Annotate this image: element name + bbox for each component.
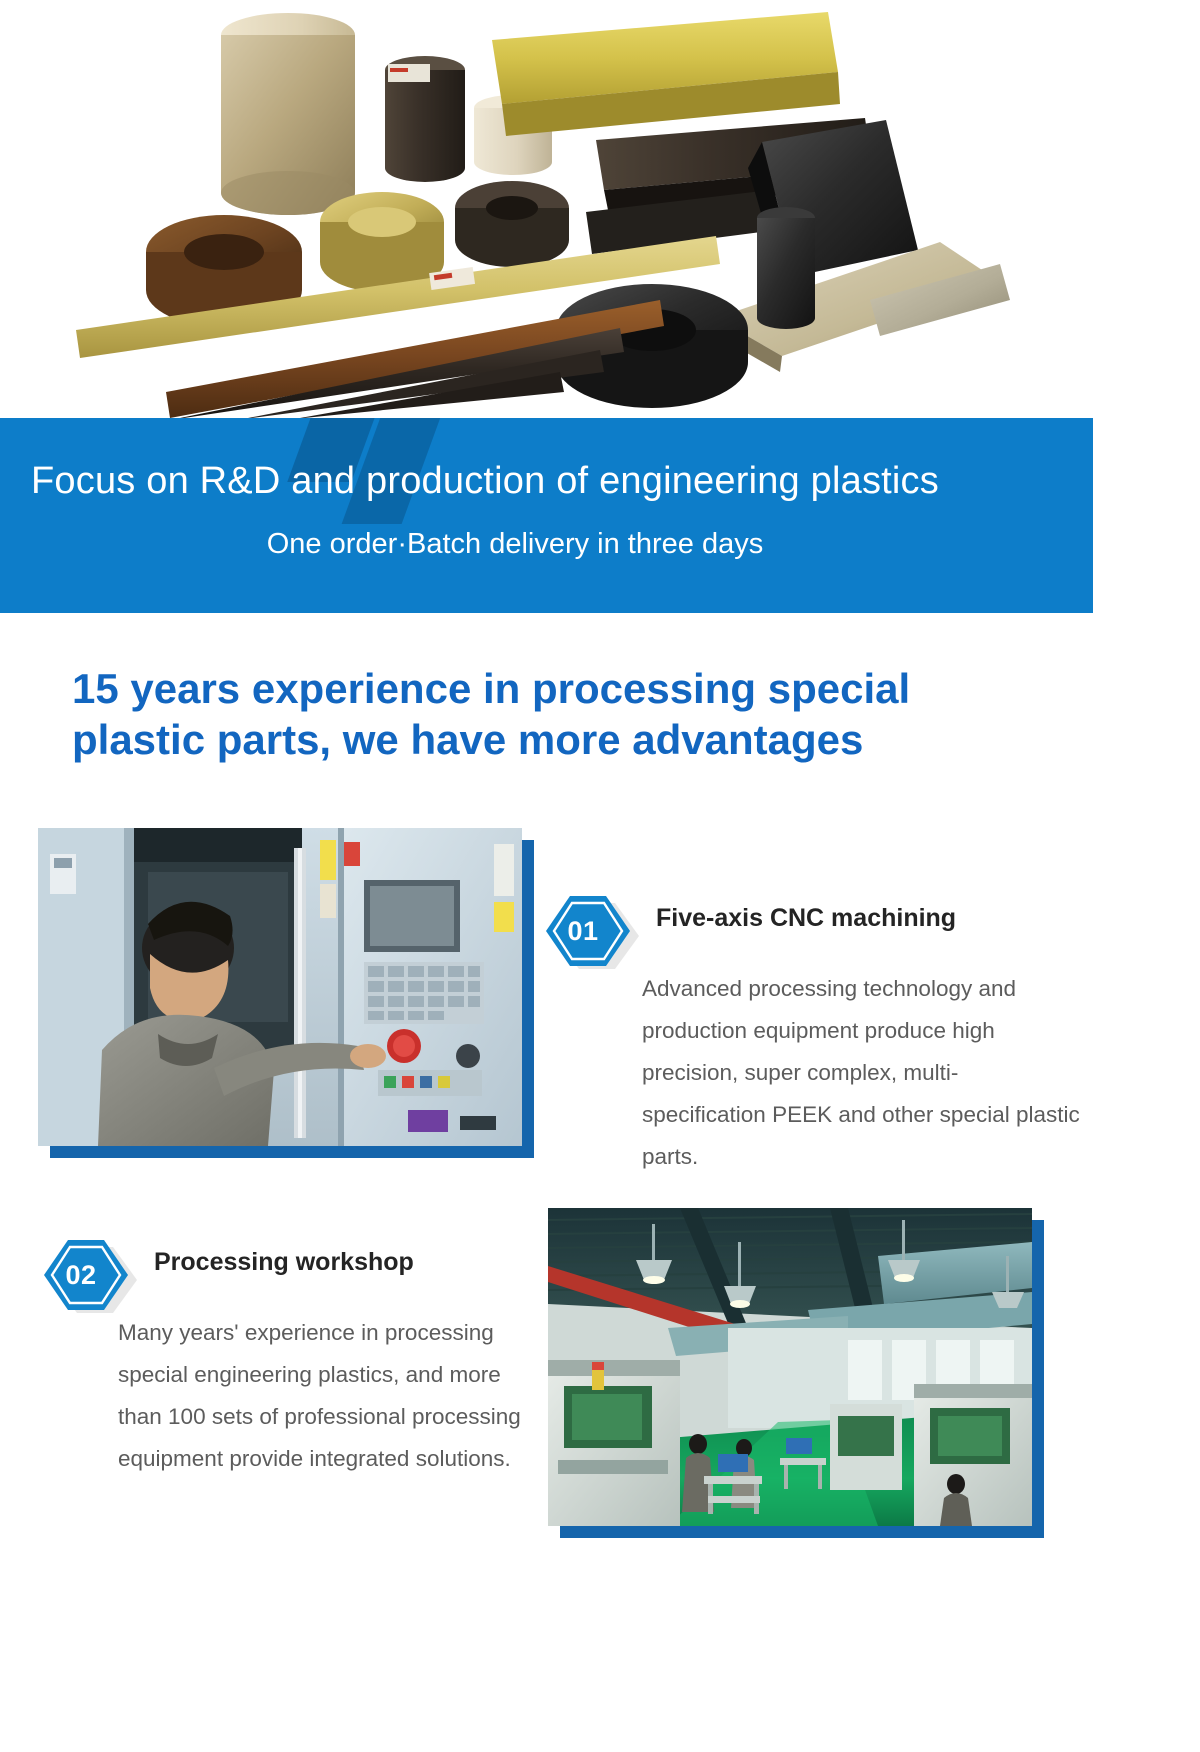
headline-banner: Focus on R&D and production of engineeri… bbox=[0, 418, 1093, 613]
banner-primary-text: Focus on R&D and production of engineeri… bbox=[31, 460, 1071, 503]
feature-01-badge: 01 bbox=[540, 892, 640, 970]
feature-01-text-block: 01 Five-axis CNC machining Advanced proc… bbox=[540, 892, 1070, 958]
feature-02-text-block: 02 Processing workshop Many years' exper… bbox=[38, 1236, 538, 1302]
feature-02-image bbox=[548, 1208, 1032, 1526]
feature-01-image bbox=[38, 828, 522, 1146]
banner-secondary-text: One order·Batch delivery in three days bbox=[0, 528, 1030, 561]
feature-02-title: Processing workshop bbox=[154, 1248, 414, 1277]
feature-01-image-frame bbox=[38, 828, 522, 1146]
feature-02-badge-number: 02 bbox=[38, 1236, 126, 1314]
feature-02-image-frame bbox=[548, 1208, 1032, 1526]
section-heading: 15 years experience in processing specia… bbox=[72, 663, 1082, 765]
feature-02-description: Many years' experience in processing spe… bbox=[118, 1312, 548, 1480]
feature-01-header: 01 Five-axis CNC machining bbox=[540, 892, 1070, 958]
workshop-illustration bbox=[548, 1208, 1032, 1526]
hero-product-image bbox=[0, 0, 1200, 418]
feature-01-description: Advanced processing technology and produ… bbox=[642, 968, 1082, 1178]
cnc-operator-illustration bbox=[38, 828, 522, 1146]
feature-02-badge: 02 bbox=[38, 1236, 138, 1314]
feature-02-header: 02 Processing workshop bbox=[38, 1236, 538, 1302]
hero-product-illustration bbox=[0, 0, 1200, 418]
feature-01-title: Five-axis CNC machining bbox=[656, 904, 956, 933]
feature-01-badge-number: 01 bbox=[540, 892, 628, 970]
section-heading-line-1: 15 years experience in processing specia… bbox=[72, 663, 1082, 714]
section-heading-line-2: plastic parts, we have more advantages bbox=[72, 714, 1082, 765]
